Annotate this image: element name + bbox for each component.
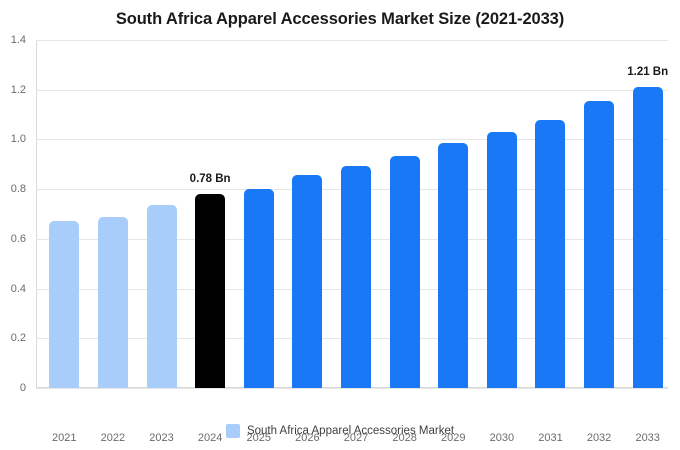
y-axis-tick-label: 1.4 [0, 34, 26, 46]
gridline [36, 139, 668, 140]
bar[interactable] [195, 194, 225, 388]
gridline [36, 40, 668, 41]
bar-value-label: 1.21 Bn [627, 66, 668, 78]
y-axis-tick-label: 0.8 [0, 183, 26, 195]
y-axis-line [36, 40, 37, 388]
bar[interactable] [341, 166, 371, 388]
y-axis-tick-label: 1.0 [0, 133, 26, 145]
bar[interactable] [535, 120, 565, 388]
bar[interactable] [98, 217, 128, 389]
y-axis-tick-label: 0.6 [0, 233, 26, 245]
bar[interactable] [49, 221, 79, 388]
bar[interactable] [244, 189, 274, 388]
bar[interactable] [584, 101, 614, 388]
gridline [36, 90, 668, 91]
bar[interactable] [633, 87, 663, 388]
bar-value-label: 0.78 Bn [190, 173, 231, 185]
bar[interactable] [487, 132, 517, 388]
bar[interactable] [390, 156, 420, 388]
legend-label: South Africa Apparel Accessories Market [247, 425, 454, 437]
plot-area: 00.20.40.60.81.01.21.4 20212022202320242… [36, 40, 668, 388]
chart-title: South Africa Apparel Accessories Market … [0, 10, 680, 29]
bar[interactable] [147, 205, 177, 388]
chart-container: South Africa Apparel Accessories Market … [0, 0, 680, 450]
legend-swatch [226, 424, 240, 438]
y-axis-tick-label: 1.2 [0, 84, 26, 96]
bar[interactable] [438, 143, 468, 388]
y-axis-tick-label: 0 [0, 382, 26, 394]
gridline [36, 388, 668, 389]
y-axis-tick-label: 0.4 [0, 283, 26, 295]
bar[interactable] [292, 175, 322, 388]
chart-legend: South Africa Apparel Accessories Market [0, 424, 680, 438]
y-axis-tick-label: 0.2 [0, 332, 26, 344]
